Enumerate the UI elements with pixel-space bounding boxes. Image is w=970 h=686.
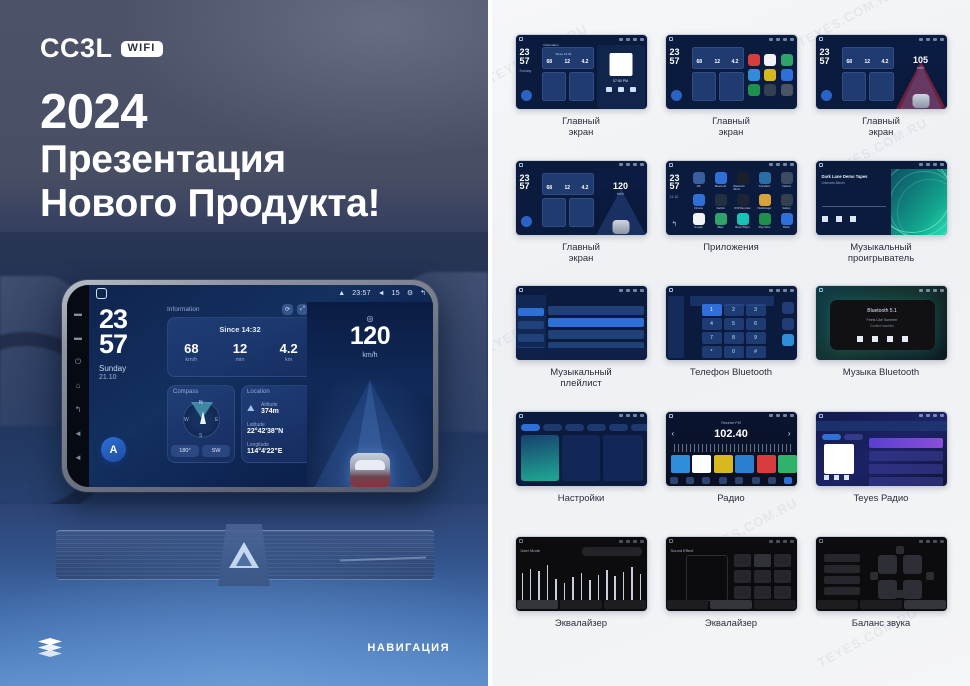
mini-speed-value: 120 — [595, 181, 647, 191]
radio-presets[interactable] — [671, 455, 798, 473]
mini-speed-unit: km/h — [895, 66, 947, 70]
mini-stat-3: 4.2 — [882, 59, 889, 65]
tab-display — [565, 424, 584, 431]
tab-system — [587, 424, 606, 431]
bt-player-card: Bluetooth 5.1 Feels Like Summer Content … — [830, 300, 935, 350]
settings-panel-3[interactable] — [603, 435, 643, 481]
mini-drive-panel: 105 km/h — [895, 43, 947, 110]
app-label: DVR Recorder — [734, 207, 750, 210]
app-item[interactable]: Chrome — [690, 194, 708, 210]
thumbnail-caption: Главныйэкран — [862, 117, 900, 139]
thumbnail-teyes-radio[interactable] — [815, 411, 948, 487]
logo-wifi-badge: WIFI — [121, 41, 163, 57]
headline-year: 2024 — [40, 88, 470, 138]
compass-bearing: 180° — [171, 445, 199, 457]
dial-key-7: 7 — [702, 332, 722, 344]
mini-clock: 2357 — [820, 48, 830, 65]
mini-location-card — [569, 198, 594, 227]
preset-4 — [735, 455, 754, 473]
mini-info-card — [542, 47, 594, 69]
back-icon[interactable]: ↰ — [75, 406, 82, 414]
mini-speed-unit: km/h — [595, 192, 647, 196]
statusbar-home-icon[interactable] — [96, 288, 107, 299]
stop-icon — [887, 336, 893, 342]
settings-icon[interactable]: ⚙ — [407, 290, 413, 297]
tab-sub — [860, 600, 902, 609]
mini-assistant-button — [521, 216, 532, 227]
preset-6 — [778, 455, 797, 473]
home-icon — [519, 37, 523, 41]
radio-tuner-scale[interactable] — [674, 444, 791, 452]
mini-assistant-button — [671, 90, 682, 101]
preset-jazz — [774, 554, 791, 567]
compass-east-label: E — [215, 417, 218, 423]
tab-apps — [609, 424, 628, 431]
mini-stat-3: 4.2 — [582, 185, 589, 191]
mini-location-card — [569, 72, 594, 101]
mini-day: 21.10 — [670, 195, 679, 200]
statusbar-right-group: ▲ 23:57 ◄ 15 ⚙ ↰ — [338, 290, 426, 297]
gallery-item[interactable]: Музыкальныйплейлист — [506, 285, 656, 411]
app-label: Maps — [717, 226, 723, 229]
thumbnail-caption: Баланс звука — [852, 619, 911, 630]
clock-minutes: 57 — [99, 332, 161, 357]
gallery-item[interactable]: 2357 68 12 4.2 105 km/h — [806, 34, 956, 160]
headline-line-1: Презентация — [40, 138, 470, 182]
balance-up-button[interactable] — [896, 546, 904, 554]
preset-all — [824, 587, 860, 595]
gallery-item[interactable]: 2357 Sunday Information Since 14:32 68 1… — [506, 34, 656, 160]
next-station-icon[interactable]: › — [788, 429, 791, 438]
bt-version-label: Bluetooth 5.1 — [830, 308, 935, 314]
thumbnail-equalizer-simple[interactable]: Sound Effect — [665, 536, 798, 612]
dialer-sidebar[interactable] — [668, 296, 684, 358]
gallery-item[interactable]: Баланс звука — [806, 536, 956, 662]
dial-key-star: * — [702, 346, 722, 358]
volume-icon[interactable]: ◄ — [378, 290, 385, 297]
backspace-icon — [782, 318, 794, 330]
mini-clock: 2357 — [670, 48, 680, 65]
mini-stat-1: 68 — [847, 59, 853, 65]
head-unit-screen[interactable]: ▲ 23:57 ◄ 15 ⚙ ↰ 23 57 Sunday 21.10 — [89, 285, 433, 487]
player-controls[interactable] — [822, 216, 856, 222]
gallery-item[interactable]: Dark Lane Demo Tapes Unknown Album Музык… — [806, 160, 956, 286]
home-icon — [519, 163, 523, 167]
preset-vocal — [754, 570, 771, 583]
app-label: Radio — [783, 226, 790, 229]
gallery-item[interactable]: 2357 68 12 4.2 120 km/h Главныйэкран — [506, 160, 656, 286]
dialpad[interactable]: 123 456 789 *0# — [702, 304, 766, 358]
gallery-item[interactable]: 123 456 789 *0# Телефон Bluetooth — [656, 285, 806, 411]
thumbnail-bluetooth-phone[interactable]: 123 456 789 *0# — [665, 285, 798, 361]
radio-band-label: Receive FM — [666, 421, 797, 425]
dial-key-8: 8 — [724, 332, 744, 344]
station-item — [869, 438, 943, 448]
thumbnail-caption: Приложения — [703, 243, 759, 254]
list-icon — [702, 477, 710, 484]
mini-clock: 2357 — [520, 48, 530, 65]
driving-panel[interactable]: ◎ 120 km/h — [307, 302, 433, 487]
settings-panel-2[interactable] — [562, 435, 600, 481]
st-icon — [752, 477, 760, 484]
app-item[interactable]: Google — [690, 213, 708, 229]
thumbnail-music-player[interactable]: Dark Lane Demo Tapes Unknown Album — [815, 160, 948, 236]
pause-icon — [836, 216, 842, 222]
mini-stat-1: 68 — [547, 185, 553, 191]
app-item[interactable]: Calculator — [756, 172, 774, 191]
next-icon — [850, 216, 856, 222]
pause-icon — [618, 87, 624, 92]
head-unit-device: ▬ ▬ ⏻ ⌂ ↰ ◄ ◄ ▲ 23:57 ◄ 15 — [62, 280, 438, 492]
home-icon — [819, 37, 823, 41]
loc-icon — [735, 477, 743, 484]
wifi-icon[interactable]: ▲ — [338, 290, 345, 297]
bt-controls[interactable] — [830, 336, 935, 342]
statusbar-back-icon[interactable]: ↰ — [420, 290, 426, 297]
home-icon — [819, 414, 823, 418]
eq-preset-grid[interactable] — [734, 554, 791, 599]
dial-key-2: 2 — [724, 304, 744, 316]
compass-south-label: S — [199, 433, 202, 439]
tab-sub — [710, 600, 752, 609]
hero-panel: CC3L WIFI 2024 Презентация Нового Продук… — [0, 0, 488, 686]
mini-compass-card — [692, 72, 716, 101]
playlist-mini-player[interactable] — [516, 348, 647, 360]
bt-track-title: Feels Like Summer — [830, 318, 935, 322]
app-item[interactable]: Radio — [778, 213, 796, 229]
clock-widget: 23 57 Sunday 21.10 — [99, 307, 161, 381]
dial-key-6: 6 — [746, 318, 766, 330]
stat-distance: 4.2 km — [264, 342, 313, 363]
home-icon — [669, 37, 673, 41]
eq-bottom-tabs[interactable] — [666, 600, 797, 609]
app-label: Bluetooth — [715, 185, 726, 188]
visualizer-art — [891, 169, 947, 236]
mini-stat-2: 12 — [865, 59, 871, 65]
preset-5 — [757, 455, 776, 473]
navigation-label: НАВИГАЦИЯ — [367, 642, 450, 654]
dial-key-5: 5 — [724, 318, 744, 330]
thumbnail-grid: 2357 Sunday Information Since 14:32 68 1… — [492, 0, 970, 686]
thumbnail-sound-balance[interactable] — [815, 536, 948, 612]
longitude-value: 114°4'22"E — [247, 448, 282, 455]
dial-key-9: 9 — [746, 332, 766, 344]
latitude-value: 22°42'38"N — [247, 428, 283, 435]
home-icon[interactable]: ⌂ — [76, 382, 81, 390]
radio-dock[interactable] — [666, 477, 797, 484]
balance-down-button[interactable] — [896, 590, 904, 598]
app-label: Carlink — [716, 207, 724, 210]
dial-key-3: 3 — [746, 304, 766, 316]
speed-value: 120 — [307, 324, 433, 349]
thumbnail-caption: Главныйэкран — [562, 243, 600, 265]
app-grid[interactable]: AM Bluetooth Bluetooth Music Calculator … — [690, 172, 796, 229]
app-label: AM — [697, 185, 701, 188]
station-item — [869, 477, 943, 487]
mini-clock: 2357 — [520, 174, 530, 191]
gallery-item[interactable]: 2357 21.10 AM Bluetooth Bluetooth Music … — [656, 160, 806, 286]
screenshot-gallery: TEYES.COM.RU TEYES.COM.RU TEYES.COM.RU T… — [492, 0, 970, 686]
thumbnail-apps[interactable]: 2357 21.10 AM Bluetooth Bluetooth Music … — [665, 160, 798, 236]
star-icon — [782, 302, 794, 314]
thumbnail-caption: Телефон Bluetooth — [690, 368, 772, 379]
preset-driver — [824, 554, 860, 562]
search-icon — [686, 477, 694, 484]
app-item[interactable]: AM — [690, 172, 708, 191]
gallery-item[interactable]: Teyes Радио — [806, 411, 956, 537]
eq-dual-sliders[interactable] — [686, 555, 728, 601]
app-item[interactable]: DVR Recorder — [734, 194, 752, 210]
station-item — [869, 464, 943, 474]
home-icon — [519, 414, 523, 418]
tab-eq — [667, 600, 709, 609]
speaker-front-left — [878, 555, 897, 574]
mini-stat-2: 12 — [715, 59, 721, 65]
mini-info-card — [542, 173, 594, 195]
mini-compass-card — [542, 198, 566, 227]
app-label: Play Store — [759, 226, 771, 229]
stat-speed-unit: km/h — [167, 357, 216, 363]
dial-key-hash: # — [746, 346, 766, 358]
thumbnail-caption: Главныйэкран — [562, 117, 600, 139]
balance-left-button[interactable] — [870, 572, 878, 580]
mini-stat-2: 12 — [565, 59, 571, 65]
prev-station-icon[interactable]: ‹ — [672, 429, 675, 438]
prev-icon — [824, 475, 829, 480]
mini-stat-2: 12 — [565, 185, 571, 191]
speaker-rear-right — [903, 580, 922, 599]
station-artwork — [824, 444, 854, 474]
volume-up-icon[interactable]: ◄ — [74, 454, 82, 462]
logo-model-text: CC3L — [40, 33, 113, 64]
information-refresh-icon[interactable]: ⟳ — [282, 304, 293, 315]
thumbnail-home-media[interactable]: 2357 Sunday Information Since 14:32 68 1… — [515, 34, 648, 110]
next-icon — [844, 475, 849, 480]
tab-fader — [904, 600, 946, 609]
power-icon[interactable]: ⏻ — [75, 358, 81, 366]
mini-media-widget: 07:50 PM — [597, 45, 645, 109]
information-since: Since 14:32 — [167, 325, 313, 334]
app-label: Music Player — [735, 226, 750, 229]
tab-eq — [517, 600, 559, 609]
thumbnail-caption: Музыка Bluetooth — [843, 368, 919, 379]
station-list[interactable] — [869, 438, 943, 487]
thumbnail-home-road[interactable]: 2357 68 12 4.2 120 km/h — [515, 160, 648, 236]
progress-bar[interactable] — [822, 206, 886, 208]
teyes-filter-chips[interactable] — [822, 434, 863, 440]
thumbnail-playlist[interactable] — [515, 285, 648, 361]
compass-west-label: W — [184, 417, 189, 423]
app-item[interactable]: Maps — [712, 213, 730, 229]
mini-info-card — [692, 47, 744, 69]
speaker-rear-left — [878, 580, 897, 599]
gallery-item[interactable]: Sound Effect Эквалайзер — [656, 536, 806, 662]
compass-north-label: N — [199, 400, 203, 406]
teyes-controls[interactable] — [824, 475, 849, 480]
thumbnail-home-drive[interactable]: 2357 68 12 4.2 105 km/h — [815, 34, 948, 110]
home-icon — [669, 163, 673, 167]
prev-icon — [606, 87, 612, 92]
home-icon — [819, 539, 823, 543]
gallery-item[interactable]: 2357 68 12 4.2 — [656, 34, 806, 160]
eject-icon[interactable]: ▬ — [74, 334, 82, 342]
thumbnail-settings[interactable] — [515, 411, 648, 487]
balance-preset-list[interactable] — [824, 554, 860, 598]
home-icon — [819, 163, 823, 167]
preset-flat — [734, 586, 751, 599]
dialer-actions[interactable] — [782, 302, 794, 346]
preset-rock — [754, 554, 771, 567]
gallery-item[interactable]: User Mode Эквалайзер — [506, 536, 656, 662]
head-unit-bezel: ▬ ▬ ⏻ ⌂ ↰ ◄ ◄ ▲ 23:57 ◄ 15 — [67, 285, 433, 487]
preset-bass — [774, 570, 791, 583]
play-icon — [872, 336, 878, 342]
app-item[interactable]: Bluetooth Music — [734, 172, 752, 191]
gallery-item[interactable]: Receive FM 102.40 ‹ › — [656, 411, 806, 537]
mini-info-card — [842, 47, 894, 69]
compass-title: Compass — [173, 389, 198, 395]
preset-1 — [671, 455, 690, 473]
mountain-icon: ⛰ — [247, 403, 255, 414]
mini-since: Since 14:32 — [556, 52, 572, 56]
media-controls — [597, 87, 645, 92]
compass-needle-icon — [200, 411, 206, 424]
eq-bottom-tabs[interactable] — [516, 600, 647, 609]
information-stats: 68 km/h 12 min 4.2 km — [167, 342, 313, 363]
app-item[interactable]: Camera — [778, 172, 796, 191]
speaker-front-right — [903, 555, 922, 574]
headline-block: 2024 Презентация Нового Продукта! — [40, 88, 470, 225]
assistant-button[interactable]: A — [101, 437, 126, 462]
mini-stat-1: 68 — [547, 59, 553, 65]
dial-key-1: 1 — [702, 304, 722, 316]
compass-direction: SW — [202, 445, 230, 457]
mini-app-drawer — [745, 43, 797, 110]
thumbnail-caption: Главныйэкран — [712, 117, 750, 139]
app-label: Camera — [782, 185, 791, 188]
car-windshield — [355, 460, 385, 470]
home-icon — [669, 288, 673, 292]
app-label: Google — [694, 226, 702, 229]
altitude-value: 374m — [261, 408, 279, 415]
headline-line-2: Нового Продукта! — [40, 182, 470, 226]
next-icon — [902, 336, 908, 342]
thumb-status-bar — [516, 35, 647, 43]
mini-assistant-button — [821, 90, 832, 101]
mini-info-title: Information — [544, 43, 559, 47]
wifi-panel[interactable] — [521, 435, 559, 481]
gallery-item[interactable]: Bluetooth 5.1 Feels Like Summer Content … — [806, 285, 956, 411]
mic-icon[interactable]: ▬ — [74, 310, 82, 318]
next-icon — [630, 87, 636, 92]
thumbnail-caption: Настройки — [558, 494, 605, 505]
eq-bottom-tabs[interactable] — [816, 600, 947, 609]
home-icon — [669, 539, 673, 543]
dial-key-4: 4 — [702, 318, 722, 330]
thumbnail-caption: Teyes Радио — [854, 494, 909, 505]
tab-fader — [754, 600, 796, 609]
thumbnail-radio[interactable]: Receive FM 102.40 ‹ › — [665, 411, 798, 487]
media-time: 07:50 PM — [597, 79, 645, 83]
app-label: Chrome — [694, 207, 703, 210]
app-label: Gallery — [782, 207, 790, 210]
preset-2 — [692, 455, 711, 473]
teyes-nav-bar[interactable] — [816, 421, 947, 431]
balance-right-button[interactable] — [926, 572, 934, 580]
head-unit-side-keys[interactable]: ▬ ▬ ⏻ ⌂ ↰ ◄ ◄ — [67, 285, 89, 487]
thumbnail-caption: Музыкальныйплейлист — [550, 368, 611, 390]
volume-down-icon[interactable]: ◄ — [74, 430, 82, 438]
app-item[interactable]: Bluetooth — [712, 172, 730, 191]
thumbnail-bluetooth-music[interactable]: Bluetooth 5.1 Feels Like Summer Content … — [815, 285, 948, 361]
thumbnail-caption: Музыкальныйпроигрыватель — [848, 243, 914, 265]
home-icon — [519, 288, 523, 292]
eq-band-sliders[interactable] — [522, 555, 642, 603]
mini-stat-3: 4.2 — [582, 59, 589, 65]
presentation-slide: CC3L WIFI 2024 Презентация Нового Продук… — [0, 0, 970, 686]
app-label: FileManager — [758, 207, 772, 210]
preset-rear — [824, 576, 860, 584]
app-item[interactable]: Play Store — [756, 213, 774, 229]
thumbnail-equalizer-bands[interactable]: User Mode — [515, 536, 648, 612]
home-icon — [819, 288, 823, 292]
tab-about — [631, 424, 648, 431]
mini-compass-card — [542, 72, 566, 101]
status-bar: ▲ 23:57 ◄ 15 ⚙ ↰ — [89, 285, 433, 302]
stat-duration-unit: min — [216, 357, 265, 363]
clock-day: Sunday — [99, 364, 161, 373]
app-item[interactable]: Carlink — [712, 194, 730, 210]
tab-fader — [604, 600, 646, 609]
mini-speed-value: 105 — [895, 55, 947, 65]
mini-location-card — [869, 72, 894, 101]
settings-tabs[interactable] — [521, 424, 648, 431]
call-icon — [782, 334, 794, 346]
app-label: Calculator — [759, 185, 771, 188]
preset-3 — [714, 455, 733, 473]
power-icon — [768, 477, 776, 484]
thumbnail-caption: Эквалайзер — [555, 619, 607, 630]
mini-road-panel: 120 km/h — [595, 169, 647, 236]
station-item — [869, 451, 943, 461]
radio-frequency: 102.40 — [666, 428, 797, 440]
prev-icon — [857, 336, 863, 342]
back-icon[interactable]: ↰ — [672, 220, 678, 228]
preset-pop — [734, 554, 751, 567]
preset-classic — [734, 570, 751, 583]
stat-duration-value: 12 — [216, 342, 265, 355]
tab-sound — [543, 424, 562, 431]
gallery-item[interactable]: Настройки — [506, 411, 656, 537]
thumbnail-home-apps[interactable]: 2357 68 12 4.2 — [665, 34, 798, 110]
home-icon — [669, 414, 673, 418]
app-item[interactable]: Gallery — [778, 194, 796, 210]
home-icon — [519, 539, 523, 543]
tab-wifi — [521, 424, 540, 431]
information-title: Information — [167, 306, 200, 313]
app-item[interactable]: FileManager — [756, 194, 774, 210]
eq-preset-label: User Mode — [521, 548, 541, 553]
statusbar-volume: 15 — [392, 290, 400, 297]
prev-icon — [822, 216, 828, 222]
thumbnail-caption: Радио — [717, 494, 744, 505]
car-3d-model — [350, 453, 390, 487]
mini-day: Sunday — [520, 69, 532, 74]
mini-location-card — [719, 72, 744, 101]
mini-clock-m: 57 — [520, 56, 530, 66]
app-item[interactable]: Music Player — [734, 213, 752, 229]
stat-duration: 12 min — [216, 342, 265, 363]
